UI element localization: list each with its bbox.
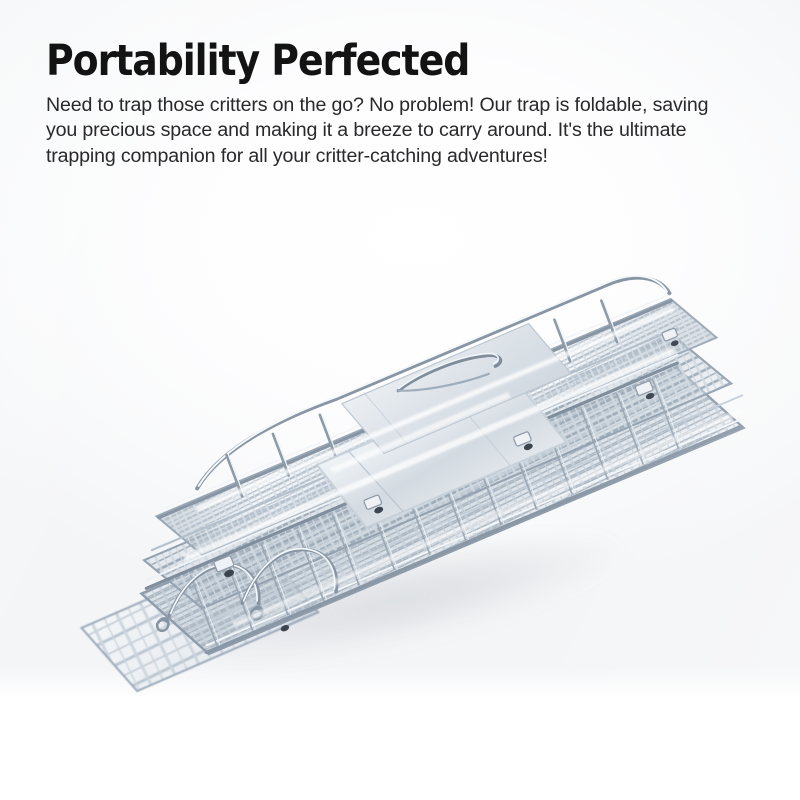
body-copy: Need to trap those critters on the go? N…: [46, 93, 718, 169]
trap-illustration: [0, 160, 800, 700]
copy-block: Portability Perfected Need to trap those…: [46, 38, 736, 169]
product-feature-panel: Portability Perfected Need to trap those…: [0, 0, 800, 800]
page-title: Portability Perfected: [46, 38, 653, 84]
trap-body-group: [32, 257, 776, 700]
product-photo-folded-trap: [0, 160, 800, 700]
